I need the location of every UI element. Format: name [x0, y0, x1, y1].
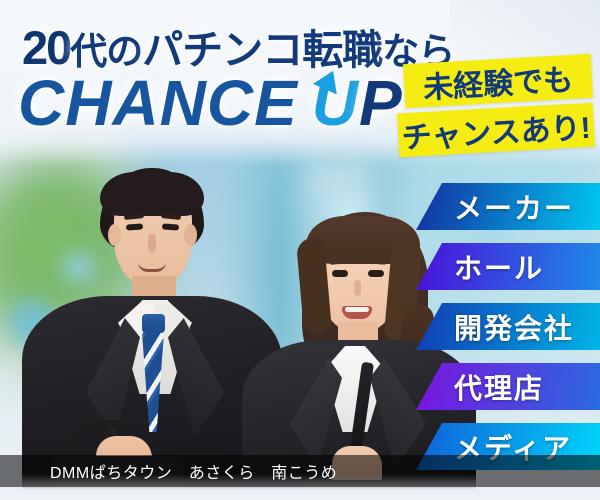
man-fringe — [100, 172, 204, 216]
man-eye-left — [126, 223, 143, 230]
category-button-agency[interactable]: 代理店 — [416, 363, 600, 410]
logo-word-chance: CHANCE — [18, 67, 298, 139]
category-label: 開発会社 — [454, 307, 574, 347]
category-label: ホール — [454, 247, 544, 287]
man-tie-knot — [142, 314, 165, 333]
logo-up-group: UP — [312, 66, 403, 140]
badge-label: 未経験でも — [422, 55, 574, 107]
category-button-developer[interactable]: 開発会社 — [416, 303, 600, 350]
category-label: メーカー — [454, 187, 574, 227]
credit-strip: DMMぱちタウン あさくら 南こうめ — [0, 455, 600, 487]
man-nose — [148, 234, 156, 252]
woman-eye-right — [368, 270, 384, 277]
man-ear-left — [108, 224, 121, 246]
promo-banner: 20代のパチンコ転職なら CHANCEUP 未経験でも チャンスあり! メーカー… — [0, 0, 600, 500]
woman-teeth — [345, 307, 369, 312]
man-ear-right — [184, 224, 197, 246]
category-button-maker[interactable]: メーカー — [416, 183, 600, 230]
category-button-hall[interactable]: ホール — [416, 243, 600, 290]
category-label: 代理店 — [454, 367, 544, 407]
logo-letter-p: P — [359, 67, 403, 139]
chance-up-logo: CHANCEUP — [18, 66, 403, 140]
credit-text: DMMぱちタウン あさくら 南こうめ — [50, 459, 337, 483]
woman-nose — [354, 280, 361, 296]
woman-eye-left — [332, 270, 348, 277]
man-eye-right — [162, 223, 179, 230]
